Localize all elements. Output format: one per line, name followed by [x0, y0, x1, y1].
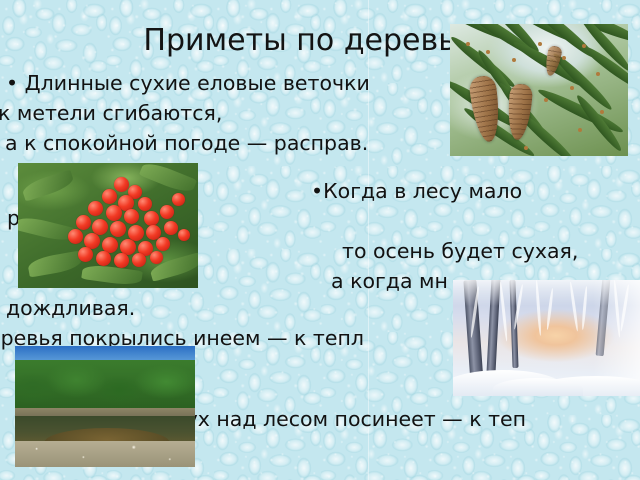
rowan-berries-photo [18, 163, 198, 288]
rowan-line-1: Когда в лесу мало [323, 179, 522, 203]
spruce-cones-photo [450, 24, 628, 156]
presentation-slide: Приметы по деревьям • Длинные сухие елов… [0, 0, 640, 480]
spruce-line-1: Длинные сухие еловые веточки [25, 71, 370, 95]
text-block-hoarfrost: дождливая. еревья покрылись инеем — к те… [6, 293, 364, 353]
spruce-line-3: а к спокойной погоде — расправ. [5, 128, 370, 158]
bullet-icon: • [311, 179, 323, 203]
text-block-blue-air: оздух над лесом посинеет — к теп [148, 404, 526, 434]
winter-birch-photo [453, 280, 640, 396]
text-block-rowan-berries: •Когда в лесу мало то осень будет сухая,… [311, 176, 578, 296]
hoarfrost-line-1: дождливая. [6, 293, 364, 323]
blue-air-line-1: оздух над лесом посинеет — к теп [148, 404, 526, 434]
bullet-line-spruce-1: • Длинные сухие еловые веточки [6, 68, 370, 98]
river-photo-forest [15, 360, 195, 412]
bullet-icon: • [6, 71, 18, 95]
summer-river-photo [15, 346, 195, 467]
spruce-line-2: к метели сгибаются, [0, 98, 370, 128]
text-block-spruce-branches: • Длинные сухие еловые веточки к метели … [6, 68, 370, 158]
bullet-line-rowan-1: •Когда в лесу мало [311, 176, 578, 206]
rowan-line-2: то осень будет сухая, [342, 236, 578, 266]
river-photo-gravel [15, 441, 195, 467]
